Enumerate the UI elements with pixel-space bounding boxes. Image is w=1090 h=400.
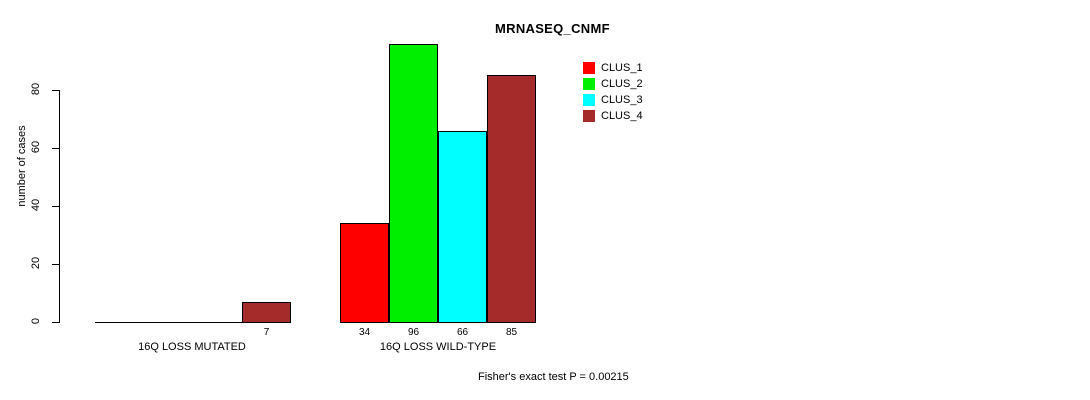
- legend-label: CLUS_2: [601, 78, 643, 90]
- bar-value-label: 85: [487, 327, 536, 338]
- y-axis-tick-label: 80: [30, 76, 42, 102]
- legend-label: CLUS_4: [601, 110, 643, 122]
- legend-item: CLUS_2: [583, 76, 643, 92]
- legend-swatch-icon: [583, 94, 595, 106]
- bar: [487, 75, 536, 323]
- bar: [389, 44, 438, 323]
- statistical-annotation: Fisher's exact test P = 0.00215: [478, 371, 629, 383]
- bar-value-label: 34: [340, 327, 389, 338]
- y-axis-tick-label: 20: [30, 250, 42, 276]
- legend-label: CLUS_3: [601, 94, 643, 106]
- y-axis-line: [59, 90, 60, 323]
- y-axis-tick: [52, 322, 59, 323]
- legend-swatch-icon: [583, 78, 595, 90]
- y-axis-tick: [52, 148, 59, 149]
- bar: [340, 223, 389, 323]
- y-axis-tick: [52, 90, 59, 91]
- chart-container: MRNASEQ_CNMF number of cases 020406080 7…: [0, 0, 1090, 400]
- chart-title: MRNASEQ_CNMF: [495, 21, 610, 36]
- legend-item: CLUS_4: [583, 108, 643, 124]
- legend-swatch-icon: [583, 110, 595, 122]
- legend-item: CLUS_3: [583, 92, 643, 108]
- bar: [438, 131, 487, 323]
- bar: [242, 302, 291, 323]
- y-axis-tick-label: 60: [30, 134, 42, 160]
- bar-value-label: 96: [389, 327, 438, 338]
- legend: CLUS_1CLUS_2CLUS_3CLUS_4: [583, 60, 643, 124]
- x-axis-group-label: 16Q LOSS WILD-TYPE: [288, 341, 588, 353]
- legend-label: CLUS_1: [601, 62, 643, 74]
- legend-item: CLUS_1: [583, 60, 643, 76]
- y-axis-tick: [52, 206, 59, 207]
- bar-value-label: 66: [438, 327, 487, 338]
- y-axis-tick: [52, 264, 59, 265]
- bar-value-label: 7: [242, 327, 291, 338]
- y-axis-tick-label: 0: [30, 308, 42, 334]
- y-axis-label: number of cases: [16, 106, 28, 226]
- y-axis-tick-label: 40: [30, 192, 42, 218]
- legend-swatch-icon: [583, 62, 595, 74]
